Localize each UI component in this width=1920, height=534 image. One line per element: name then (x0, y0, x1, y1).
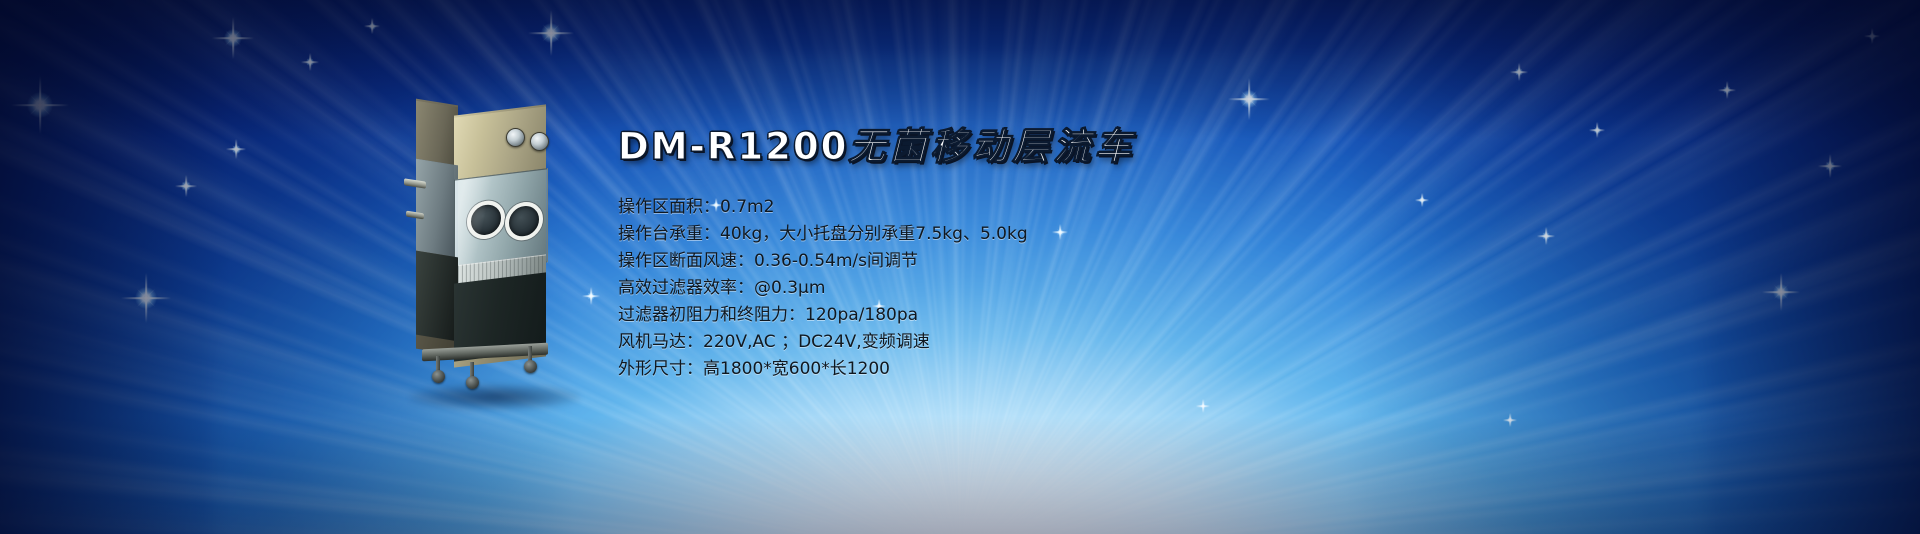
product-model: DM-R1200 (618, 125, 848, 168)
product-title: DM-R1200无菌移动层流车 (618, 116, 1178, 170)
spec-line: 高效过滤器效率：@0.3μm (618, 275, 1178, 302)
spec-line: 操作区面积：0.7m2 (618, 194, 1178, 221)
cabinet-side-top (416, 101, 458, 167)
spec-line: 外形尺寸：高1800*宽600*长1200 (618, 356, 1178, 383)
lower-cabinet-side (416, 251, 458, 342)
spec-line: 操作台承重：40kg，大小托盘分别承重7.5kg、5.0kg (618, 221, 1178, 248)
product-banner: DM-R1200无菌移动层流车 操作区面积：0.7m2操作台承重：40kg，大小… (0, 0, 1920, 534)
spec-line: 风机马达：220V,AC ；DC24V,变频调速 (618, 329, 1178, 356)
chamber-side-glass (416, 159, 458, 258)
copy-block: DM-R1200无菌移动层流车 操作区面积：0.7m2操作台承重：40kg，大小… (618, 116, 1178, 383)
caster-wheel-icon (524, 360, 537, 373)
caster-wheel-icon (432, 370, 445, 383)
product-shadow (410, 384, 580, 410)
product-name-cn: 无菌移动层流车 (848, 124, 1135, 168)
pressure-gauge-icon (530, 132, 549, 151)
pressure-gauge-icon (506, 128, 525, 147)
caster-wheel-icon (466, 376, 479, 389)
glove-port-icon (505, 200, 543, 243)
spec-line: 操作区断面风速：0.36-0.54m/s间调节 (618, 248, 1178, 275)
spec-line: 过滤器初阻力和终阻力：120pa/180pa (618, 302, 1178, 329)
product-image-laminar-flow-cart (402, 88, 582, 398)
spec-list: 操作区面积：0.7m2操作台承重：40kg，大小托盘分别承重7.5kg、5.0k… (618, 194, 1178, 383)
glove-port-icon (467, 199, 505, 242)
